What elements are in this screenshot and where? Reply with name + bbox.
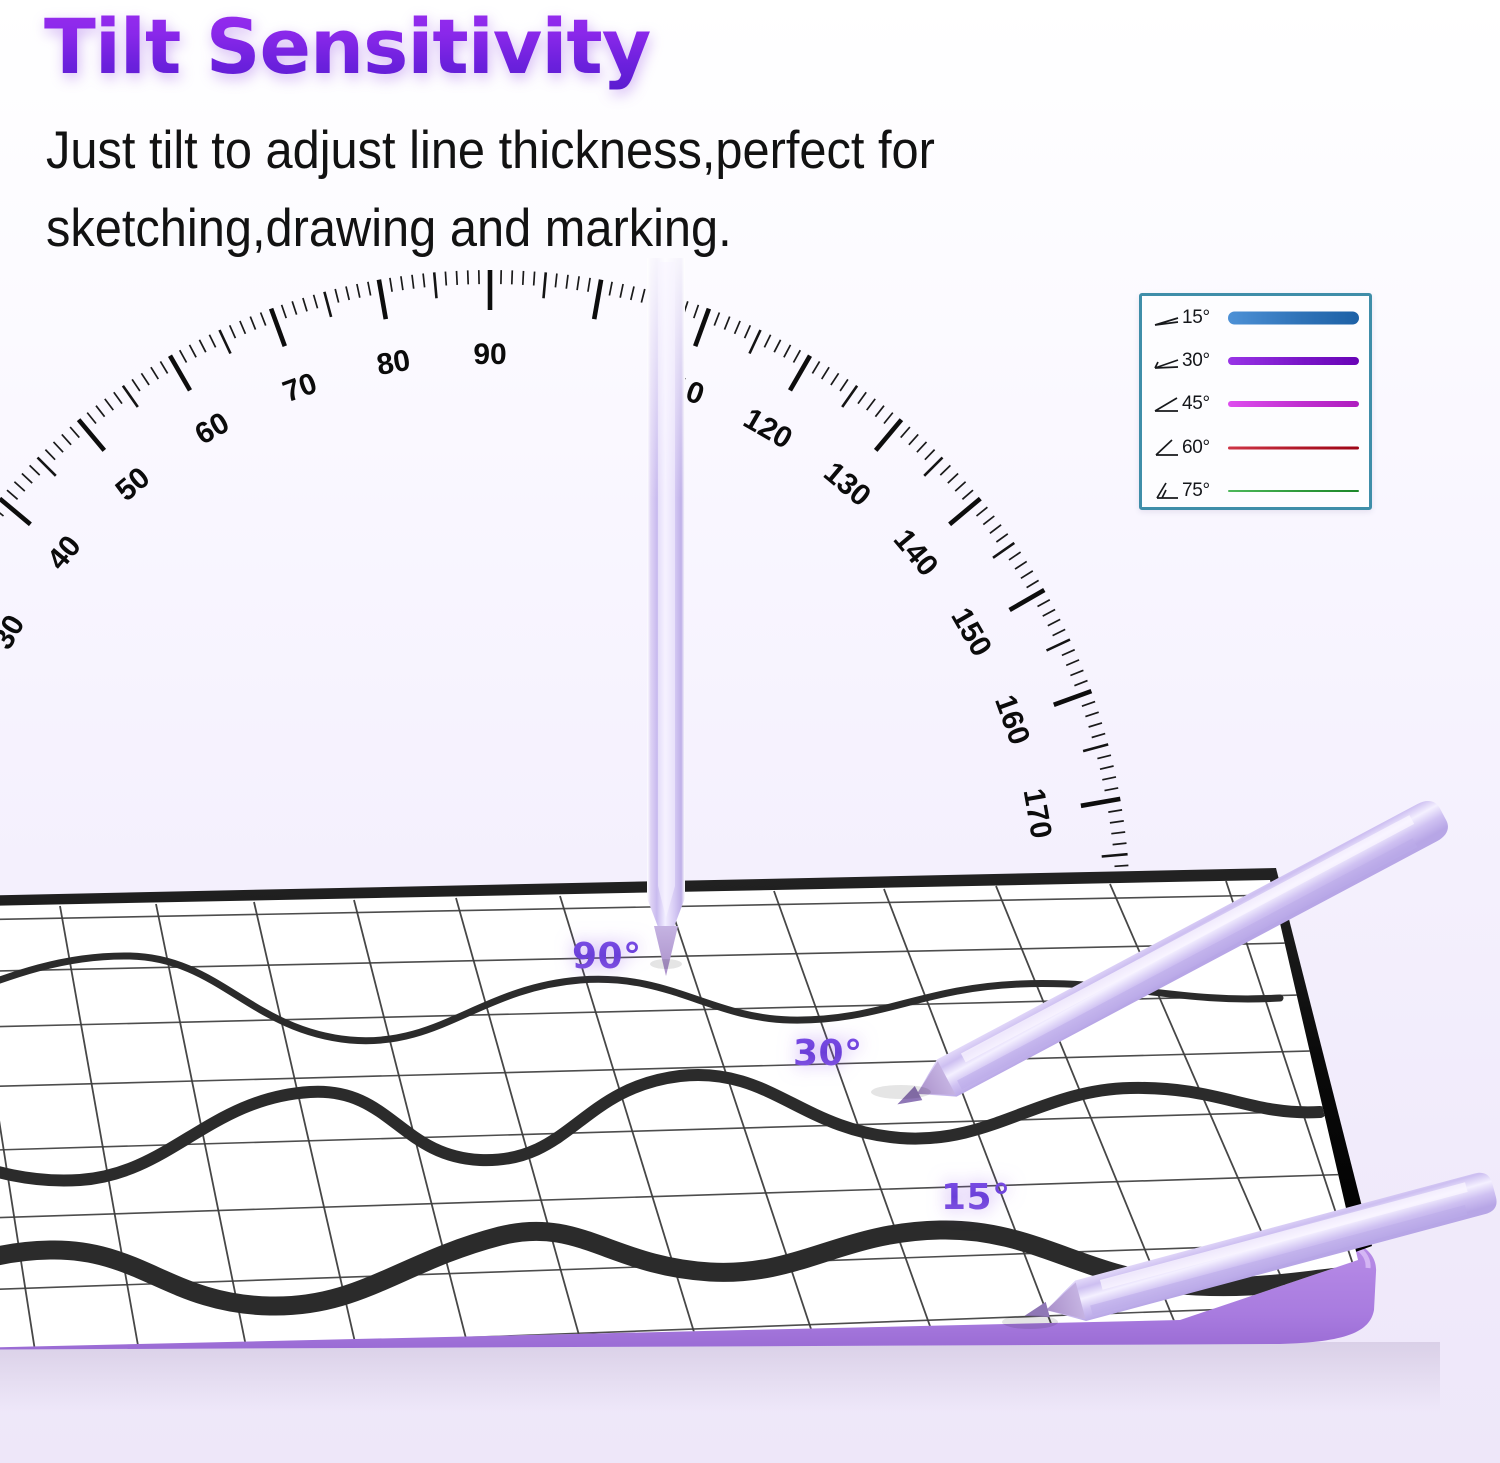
legend-row: 60° (1142, 426, 1369, 469)
protractor-label: 60 (190, 406, 235, 451)
protractor-label: 150 (944, 602, 998, 662)
callout-90: 90° (572, 936, 642, 977)
legend-stroke-30 (1228, 351, 1359, 371)
legend-stroke-15 (1228, 308, 1359, 328)
stylus-highlight (1100, 1182, 1468, 1289)
protractor-label: 140 (887, 523, 944, 583)
angle-45-icon (1153, 394, 1179, 414)
product-feature-image: Tilt Sensitivity Just tilt to adjust lin… (0, 0, 1500, 1463)
page-subtitle: Just tilt to adjust line thickness,perfe… (46, 112, 1076, 269)
page-title: Tilt Sensitivity (44, 2, 650, 91)
protractor-label: 130 (817, 456, 877, 513)
protractor-label: 40 (41, 529, 88, 576)
legend-row: 45° (1142, 383, 1369, 426)
stylus-vertical-90 (630, 258, 702, 978)
legend-label: 60° (1182, 437, 1228, 459)
stylus-flat-face (1090, 1205, 1467, 1315)
protractor-label: 70 (279, 367, 322, 409)
protractor-label: 50 (109, 461, 156, 508)
angle-60-icon (1153, 438, 1179, 458)
angle-15-icon (1153, 308, 1179, 328)
legend-row: 15° (1142, 296, 1369, 339)
protractor-label: 120 (738, 402, 798, 456)
callout-15: 15° (941, 1177, 1011, 1218)
protractor-label: 30 (0, 610, 31, 655)
stylus-flat-face (957, 838, 1417, 1089)
protractor-label: 90 (473, 338, 506, 371)
protractor-label: 80 (374, 344, 413, 382)
angle-75-icon (1153, 481, 1179, 501)
stylus-highlight (961, 815, 1414, 1062)
stylus-highlight (658, 262, 675, 918)
legend-row: 75° (1142, 470, 1369, 513)
legend-label: 45° (1182, 393, 1228, 415)
callout-30: 30° (793, 1033, 863, 1074)
angle-30-icon (1153, 351, 1179, 371)
legend-stroke-75 (1228, 481, 1359, 501)
legend-row: 30° (1142, 339, 1369, 382)
stylus-tilted-15 (990, 1140, 1500, 1370)
legend-label: 75° (1182, 480, 1228, 502)
legend-stroke-60 (1228, 438, 1359, 458)
legend-label: 30° (1182, 350, 1228, 372)
legend-stroke-45 (1228, 394, 1359, 414)
subtitle-line-1: Just tilt to adjust line thickness,perfe… (46, 112, 1076, 190)
legend-label: 15° (1182, 307, 1228, 329)
stylus-tilted-30 (855, 700, 1500, 1120)
tilt-angle-legend: 15° 30° 45° 60° (1139, 293, 1372, 510)
